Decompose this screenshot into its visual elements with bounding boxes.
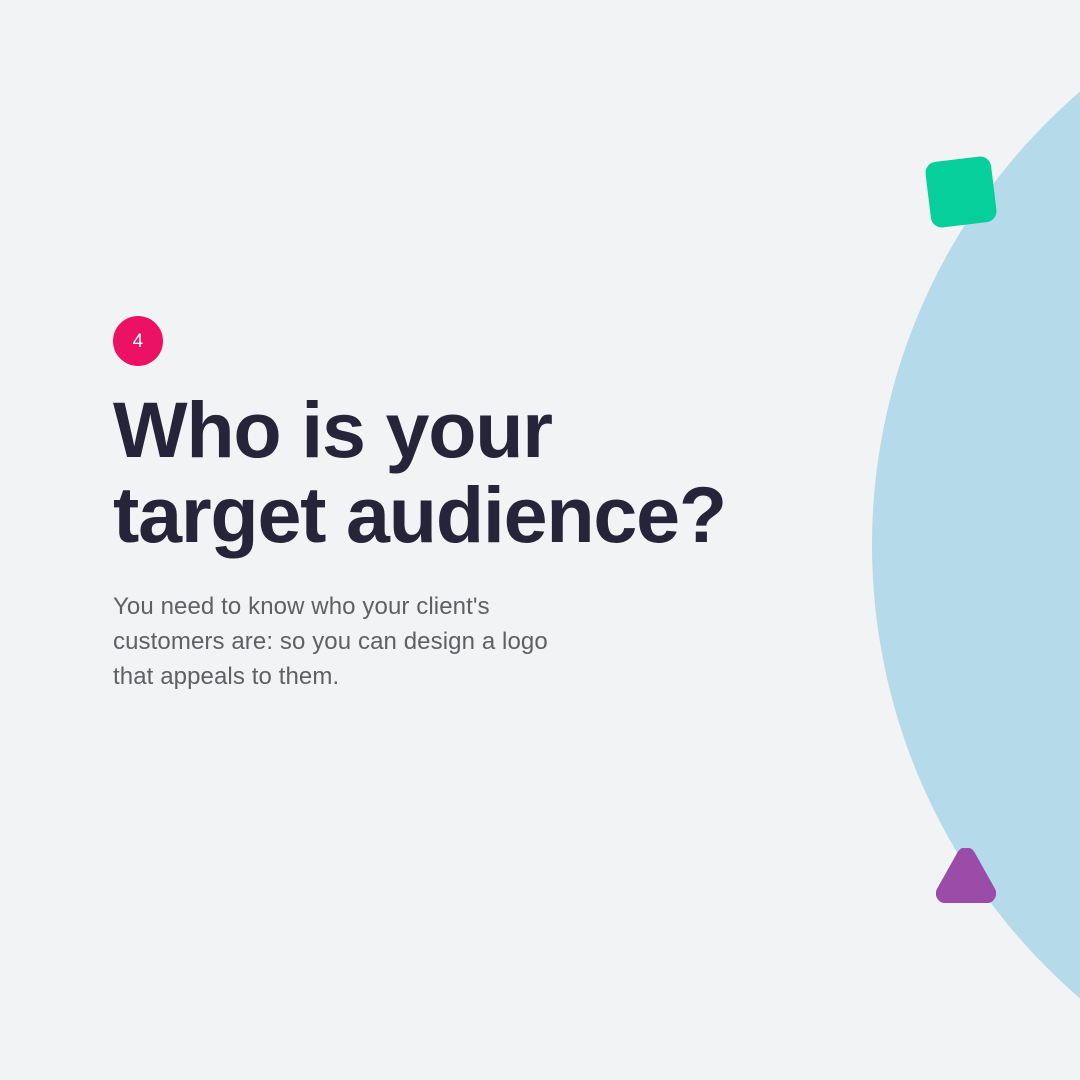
purple-triangle-decoration — [936, 848, 996, 903]
slide-canvas: 4 Who is your target audience? You need … — [0, 0, 1080, 1080]
body-paragraph: You need to know who your client's custo… — [113, 589, 653, 694]
teal-square-decoration — [924, 155, 998, 229]
step-number-badge: 4 — [113, 316, 163, 366]
step-number-label: 4 — [133, 332, 144, 351]
page-title: Who is your target audience? — [113, 387, 773, 557]
content-block: 4 Who is your target audience? You need … — [113, 316, 793, 694]
